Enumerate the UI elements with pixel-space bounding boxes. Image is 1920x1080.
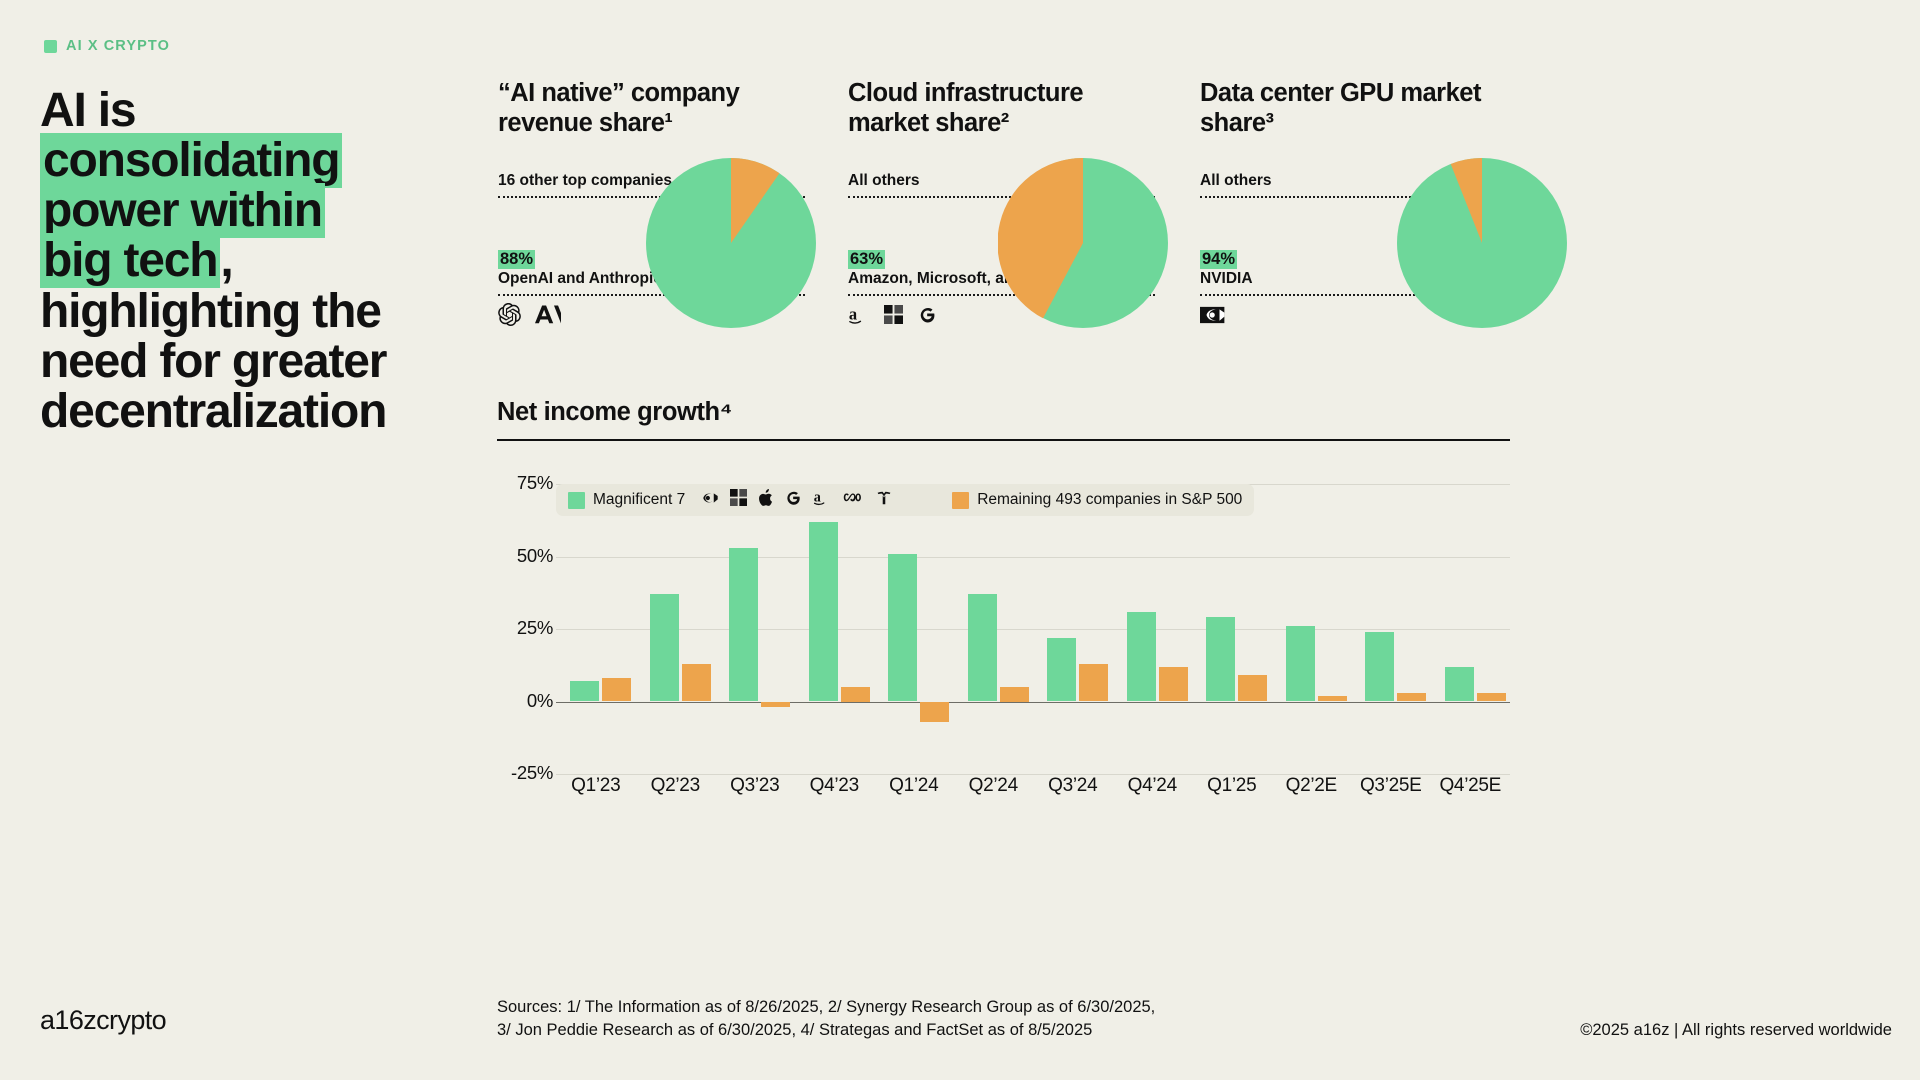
y-axis-tick: 0% (527, 690, 553, 712)
pie-card-gpu: Data center GPU market share³ All others… (1200, 78, 1620, 372)
bar-remaining-493 (920, 702, 949, 722)
chart-divider (497, 439, 1510, 441)
x-axis-tick: Q4’23 (795, 775, 875, 797)
bar-group (954, 484, 1034, 774)
chart-legend: Magnificent 7 a Remaining 493 companies … (556, 484, 1254, 516)
sources-line-2: 3/ Jon Peddie Research as of 6/30/2025, … (497, 1019, 1155, 1042)
bar-remaining-493 (1477, 693, 1506, 702)
tesla-icon (876, 490, 892, 511)
bar-magnificent-7 (570, 681, 599, 701)
eyebrow: AI X CRYPTO (44, 38, 170, 54)
bar-remaining-493 (1159, 667, 1188, 702)
google-icon (917, 305, 937, 325)
bar-chart-header: Net income growth⁴ (497, 398, 1510, 441)
page-title: AI is consolidating power within big tec… (40, 86, 470, 437)
eyebrow-label: AI X CRYPTO (66, 38, 170, 54)
x-axis-tick: Q3’24 (1033, 775, 1113, 797)
pie-percent-badge: 63% (848, 250, 885, 269)
y-axis-tick: 75% (517, 472, 553, 494)
headline-line-6: need for greater (40, 335, 386, 388)
meta-icon (843, 491, 865, 510)
bar-remaining-493 (761, 702, 790, 708)
bar-group (1351, 484, 1431, 774)
headline-highlight-2: power within (40, 183, 325, 238)
bar-group (874, 484, 954, 774)
google-icon (784, 489, 802, 512)
bar-remaining-493 (1079, 664, 1108, 702)
headline-line-5: highlighting the (40, 285, 381, 338)
bar-magnificent-7 (968, 594, 997, 701)
anthropic-icon (535, 305, 561, 324)
legend-swatch-orange (952, 492, 969, 509)
legend-label: Magnificent 7 (593, 491, 685, 509)
bar-magnificent-7 (1286, 626, 1315, 701)
infographic-page: AI X CRYPTO AI is consolidating power wi… (0, 0, 1920, 1080)
bar-remaining-493 (1000, 687, 1029, 702)
bar-remaining-493 (1318, 696, 1347, 702)
legend-logo-row: a (698, 488, 892, 512)
bar-group (1192, 484, 1272, 774)
legend-swatch-green (568, 492, 585, 509)
bar-magnificent-7 (809, 522, 838, 702)
svg-text:a: a (849, 304, 857, 323)
legend-item-magnificent-7: Magnificent 7 a (568, 488, 892, 512)
x-axis-tick: Q1’24 (874, 775, 954, 797)
bar-groups (556, 484, 1510, 774)
x-axis-tick: Q2’24 (954, 775, 1034, 797)
bar-remaining-493 (1238, 675, 1267, 701)
bar-magnificent-7 (650, 594, 679, 701)
pie-title: Cloud infrastructure market share² (848, 78, 1158, 138)
copyright-note: ©2025 a16z | All rights reserved worldwi… (1580, 1021, 1892, 1040)
bar-group (715, 484, 795, 774)
x-axis-tick: Q3’25E (1351, 775, 1431, 797)
bar-magnificent-7 (1206, 617, 1235, 701)
pie-chart-graphic (1397, 158, 1567, 333)
pie-percent-badge: 88% (498, 250, 535, 269)
bar-group (795, 484, 875, 774)
pie-title: Data center GPU market share³ (1200, 78, 1510, 138)
sources-line-1: Sources: 1/ The Information as of 8/26/2… (497, 996, 1155, 1019)
headline-highlight-3: big tech (40, 233, 220, 288)
nvidia-icon (1200, 305, 1226, 325)
apple-icon (758, 489, 773, 512)
a16zcrypto-logo: a16zcrypto (40, 1005, 166, 1036)
bar-remaining-493 (1397, 693, 1426, 702)
bar-magnificent-7 (1047, 638, 1076, 702)
left-panel: AI X CRYPTO AI is consolidating power wi… (0, 0, 490, 1080)
bar-magnificent-7 (1445, 667, 1474, 702)
microsoft-icon (730, 489, 747, 511)
legend-label: Remaining 493 companies in S&P 500 (977, 491, 1242, 509)
openai-icon (498, 303, 521, 326)
bar-group (1431, 484, 1511, 774)
sources-note: Sources: 1/ The Information as of 8/26/2… (497, 996, 1155, 1042)
x-axis-tick: Q1’25 (1192, 775, 1272, 797)
bar-magnificent-7 (1127, 612, 1156, 702)
bar-group (1272, 484, 1352, 774)
y-axis-tick: -25% (511, 762, 553, 784)
x-axis-tick: Q2’2E (1272, 775, 1352, 797)
x-axis-tick: Q3’23 (715, 775, 795, 797)
square-dot-icon (44, 40, 57, 53)
pie-chart-graphic (646, 158, 816, 333)
y-axis-tick: 25% (517, 617, 553, 639)
pie-chart-graphic (998, 158, 1168, 333)
x-axis-tick: Q2’23 (636, 775, 716, 797)
y-axis-tick: 50% (517, 545, 553, 567)
bar-group (556, 484, 636, 774)
legend-item-remaining-493: Remaining 493 companies in S&P 500 (952, 491, 1242, 509)
bar-remaining-493 (682, 664, 711, 702)
bar-remaining-493 (602, 678, 631, 701)
bar-magnificent-7 (888, 554, 917, 702)
x-axis-labels: Q1’23Q2’23Q3’23Q4’23Q1’24Q2’24Q3’24Q4’24… (556, 775, 1510, 797)
headline-highlight-1: consolidating (40, 133, 342, 188)
amazon-icon: a (848, 304, 870, 326)
bar-magnificent-7 (729, 548, 758, 702)
nvidia-icon (698, 490, 719, 511)
bar-group (1113, 484, 1193, 774)
bar-group (1033, 484, 1113, 774)
x-axis-tick: Q4’25E (1431, 775, 1511, 797)
microsoft-icon (884, 305, 903, 324)
pie-title: “AI native” company revenue share¹ (498, 78, 808, 138)
bar-remaining-493 (841, 687, 870, 702)
bar-magnificent-7 (1365, 632, 1394, 702)
pie-percent-badge: 94% (1200, 250, 1237, 269)
x-axis-tick: Q4’24 (1113, 775, 1193, 797)
x-axis-tick: Q1’23 (556, 775, 636, 797)
pie-charts-section: “AI native” company revenue share¹ 16 ot… (490, 0, 1920, 430)
headline-comma: , (220, 234, 232, 287)
bar-group (636, 484, 716, 774)
headline-line-7: decentralization (40, 385, 386, 438)
amazon-icon: a (813, 488, 832, 512)
chart-title: Net income growth⁴ (497, 398, 1510, 427)
headline-line-1: AI is (40, 84, 135, 137)
y-axis-labels: 75%50%25%0%-25% (497, 484, 553, 769)
